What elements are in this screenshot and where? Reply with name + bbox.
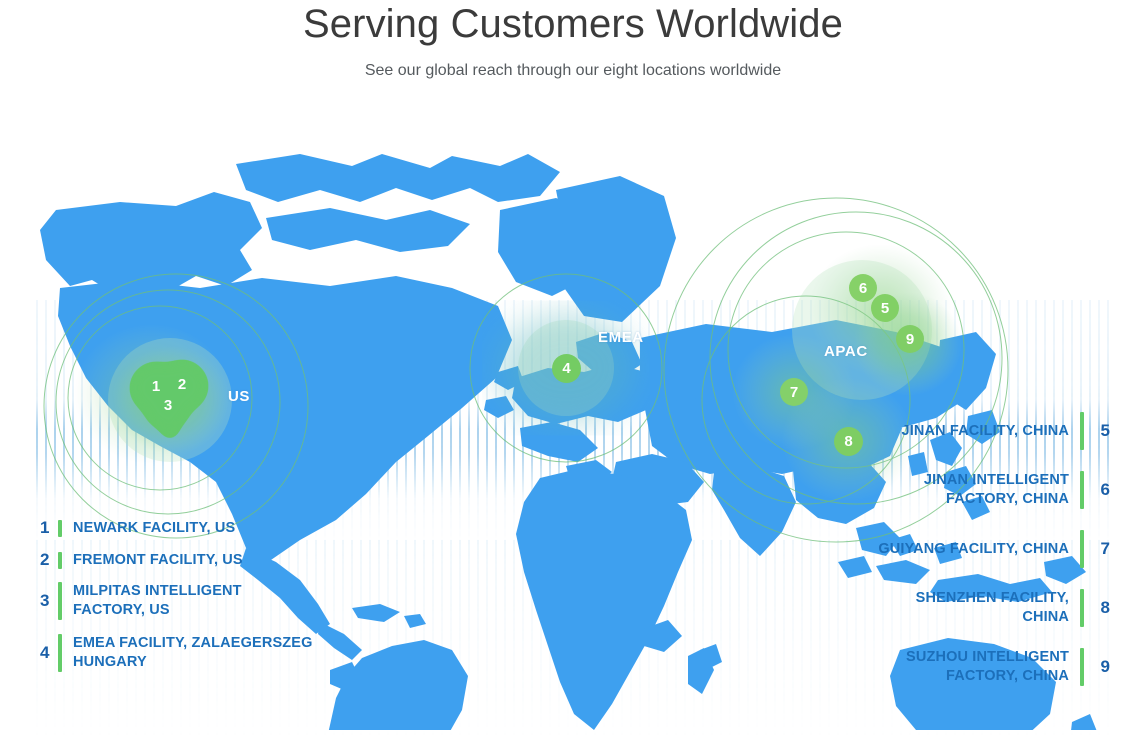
legend-bar-8 bbox=[1080, 589, 1084, 627]
legend-number-3: 3 bbox=[40, 591, 58, 611]
map-marker-3[interactable]: 3 bbox=[159, 396, 177, 414]
legend-label-5: JINAN FACILITY, CHINA bbox=[873, 422, 1069, 441]
page-header: Serving Customers Worldwide See our glob… bbox=[0, 0, 1146, 82]
legend-bar-4 bbox=[58, 634, 62, 672]
legend-number-5: 5 bbox=[1094, 421, 1110, 441]
legend-bar-1 bbox=[58, 520, 62, 537]
legend-item-6[interactable]: JINAN INTELLIGENT FACTORY, CHINA 6 bbox=[873, 471, 1110, 509]
legend-item-4[interactable]: 4 EMEA FACILITY, ZALAEGERSZEG HUNGARY bbox=[40, 634, 323, 672]
map-marker-1[interactable]: 1 bbox=[147, 377, 165, 395]
legend-label-4: EMEA FACILITY, ZALAEGERSZEG HUNGARY bbox=[73, 634, 317, 672]
region-label-us: US bbox=[228, 388, 250, 405]
map-marker-7[interactable]: 7 bbox=[780, 378, 808, 406]
legend-item-3[interactable]: 3 MILPITAS INTELLIGENT FACTORY, US bbox=[40, 582, 323, 620]
legend-bar-5 bbox=[1080, 412, 1084, 450]
page-title: Serving Customers Worldwide bbox=[0, 0, 1146, 48]
page-subtitle: See our global reach through our eight l… bbox=[0, 60, 1146, 82]
legend-number-9: 9 bbox=[1094, 657, 1110, 677]
legend-label-1: NEWARK FACILITY, US bbox=[73, 519, 323, 538]
legend-number-4: 4 bbox=[40, 643, 58, 663]
legend-number-2: 2 bbox=[40, 550, 58, 570]
legend-left: 1 NEWARK FACILITY, US 2 FREMONT FACILITY… bbox=[40, 518, 323, 672]
map-marker-6[interactable]: 6 bbox=[849, 274, 877, 302]
map-marker-5[interactable]: 5 bbox=[871, 294, 899, 322]
legend-item-8[interactable]: SHENZHEN FACILITY, CHINA 8 bbox=[873, 589, 1110, 627]
legend-item-1[interactable]: 1 NEWARK FACILITY, US bbox=[40, 518, 323, 538]
region-label-apac: APAC bbox=[824, 343, 868, 360]
legend-label-9: SUZHOU INTELLIGENT FACTORY, CHINA bbox=[873, 648, 1069, 686]
page-root: Serving Customers Worldwide See our glob… bbox=[0, 0, 1146, 756]
legend-bar-9 bbox=[1080, 648, 1084, 686]
legend-item-2[interactable]: 2 FREMONT FACILITY, US bbox=[40, 550, 323, 570]
legend-number-7: 7 bbox=[1094, 539, 1110, 559]
legend-item-9[interactable]: SUZHOU INTELLIGENT FACTORY, CHINA 9 bbox=[873, 648, 1110, 686]
legend-bar-7 bbox=[1080, 530, 1084, 568]
legend-number-8: 8 bbox=[1094, 598, 1110, 618]
legend-item-7[interactable]: GUIYANG FACILITY, CHINA 7 bbox=[873, 530, 1110, 568]
legend-right: JINAN FACILITY, CHINA 5 JINAN INTELLIGEN… bbox=[873, 412, 1110, 686]
legend-label-2: FREMONT FACILITY, US bbox=[73, 551, 323, 570]
legend-bar-2 bbox=[58, 552, 62, 569]
legend-label-3: MILPITAS INTELLIGENT FACTORY, US bbox=[73, 582, 285, 620]
legend-item-5[interactable]: JINAN FACILITY, CHINA 5 bbox=[873, 412, 1110, 450]
legend-label-6: JINAN INTELLIGENT FACTORY, CHINA bbox=[873, 471, 1069, 509]
legend-number-1: 1 bbox=[40, 518, 58, 538]
map-marker-8[interactable]: 8 bbox=[834, 427, 863, 456]
map-marker-2[interactable]: 2 bbox=[173, 375, 191, 393]
map-marker-4[interactable]: 4 bbox=[552, 354, 581, 383]
legend-label-8: SHENZHEN FACILITY, CHINA bbox=[873, 589, 1069, 627]
legend-bar-6 bbox=[1080, 471, 1084, 509]
legend-number-6: 6 bbox=[1094, 480, 1110, 500]
legend-label-7: GUIYANG FACILITY, CHINA bbox=[873, 540, 1069, 559]
legend-bar-3 bbox=[58, 582, 62, 620]
map-marker-9[interactable]: 9 bbox=[896, 325, 924, 353]
region-label-emea: EMEA bbox=[598, 329, 644, 346]
